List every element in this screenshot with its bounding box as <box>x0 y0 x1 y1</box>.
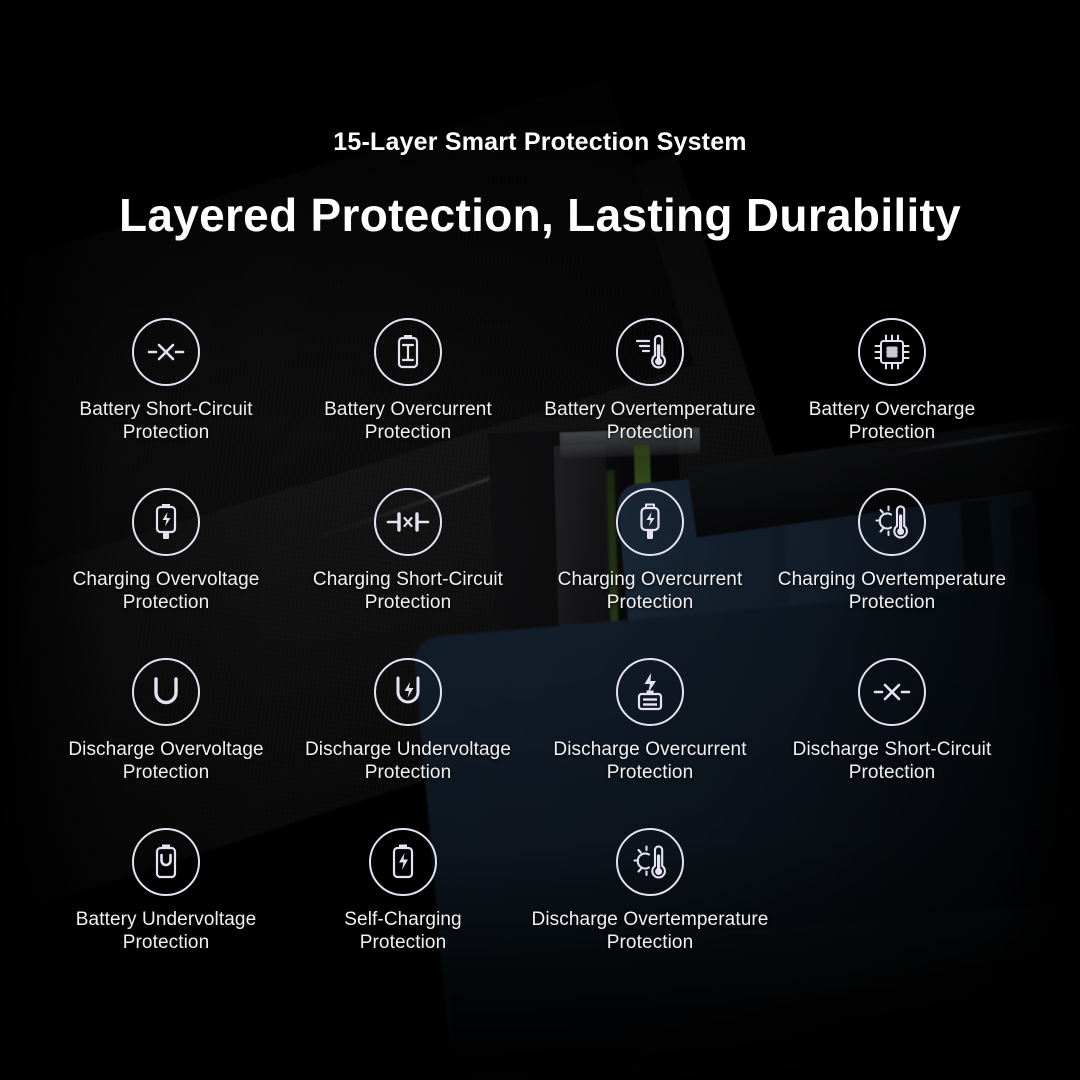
u-bolt-icon <box>374 658 442 726</box>
circuit-break-x-icon <box>374 488 442 556</box>
battery-u-icon <box>132 828 200 896</box>
battery-current-icon <box>374 318 442 386</box>
page-title: Layered Protection, Lasting Durability <box>0 188 1080 242</box>
feature-label: Discharge Undervoltage Protection <box>288 738 528 784</box>
feature-label: Battery Short-Circuit Protection <box>46 398 286 444</box>
feature-label: Charging Overvoltage Protection <box>46 568 286 614</box>
chip-icon <box>858 318 926 386</box>
feature-row: Charging Overvoltage Protection Charging… <box>0 488 1080 658</box>
battery-bolt-connector-icon <box>616 488 684 556</box>
promo-panel: 15-Layer Smart Protection System Layered… <box>0 0 1080 1080</box>
battery-bolt-plug-icon <box>132 488 200 556</box>
feature-label: Charging Overtemperature Protection <box>772 568 1012 614</box>
feature-item: Discharge Overvoltage Protection <box>46 658 286 784</box>
sun-thermometer-icon <box>616 828 684 896</box>
short-circuit-icon <box>132 318 200 386</box>
battery-bolt-icon <box>369 828 437 896</box>
feature-item: Discharge Overcurrent Protection <box>530 658 770 784</box>
feature-item: Battery Overcharge Protection <box>772 318 1012 444</box>
feature-row: Discharge Overvoltage Protection Dischar… <box>0 658 1080 828</box>
feature-label: Discharge Overvoltage Protection <box>46 738 286 784</box>
sun-thermometer-icon <box>858 488 926 556</box>
feature-item: Discharge Undervoltage Protection <box>288 658 528 784</box>
feature-row: Battery Undervoltage Protection Self-Cha… <box>0 828 1080 998</box>
feature-item: Battery Overcurrent Protection <box>288 318 528 444</box>
feature-item: Battery Undervoltage Protection <box>46 828 286 954</box>
feature-item: Charging Overcurrent Protection <box>530 488 770 614</box>
subtitle: 15-Layer Smart Protection System <box>0 128 1080 157</box>
battery-discharge-bolt-icon <box>616 658 684 726</box>
feature-label: Discharge Short-Circuit Protection <box>772 738 1012 784</box>
thermometer-heat-icon <box>616 318 684 386</box>
feature-label: Battery Overcurrent Protection <box>288 398 528 444</box>
feature-item: Charging Overvoltage Protection <box>46 488 286 614</box>
feature-item: Battery Overtemperature Protection <box>530 318 770 444</box>
feature-label: Self-Charging Protection <box>283 908 523 954</box>
feature-label: Discharge Overtemperature Protection <box>530 908 770 954</box>
feature-label: Battery Overtemperature Protection <box>530 398 770 444</box>
feature-label: Battery Undervoltage Protection <box>46 908 286 954</box>
feature-label: Charging Overcurrent Protection <box>530 568 770 614</box>
feature-item: Discharge Overtemperature Protection <box>530 828 770 954</box>
feature-label: Charging Short-Circuit Protection <box>288 568 528 614</box>
protection-feature-grid: Battery Short-Circuit Protection Battery… <box>0 318 1080 998</box>
feature-item: Battery Short-Circuit Protection <box>46 318 286 444</box>
u-glyph-icon <box>132 658 200 726</box>
feature-item: Discharge Short-Circuit Protection <box>772 658 1012 784</box>
feature-row: Battery Short-Circuit Protection Battery… <box>0 318 1080 488</box>
short-circuit-icon <box>858 658 926 726</box>
feature-label: Battery Overcharge Protection <box>772 398 1012 444</box>
feature-item: Self-Charging Protection <box>283 828 523 954</box>
feature-label: Discharge Overcurrent Protection <box>530 738 770 784</box>
feature-item: Charging Overtemperature Protection <box>772 488 1012 614</box>
feature-item: Charging Short-Circuit Protection <box>288 488 528 614</box>
